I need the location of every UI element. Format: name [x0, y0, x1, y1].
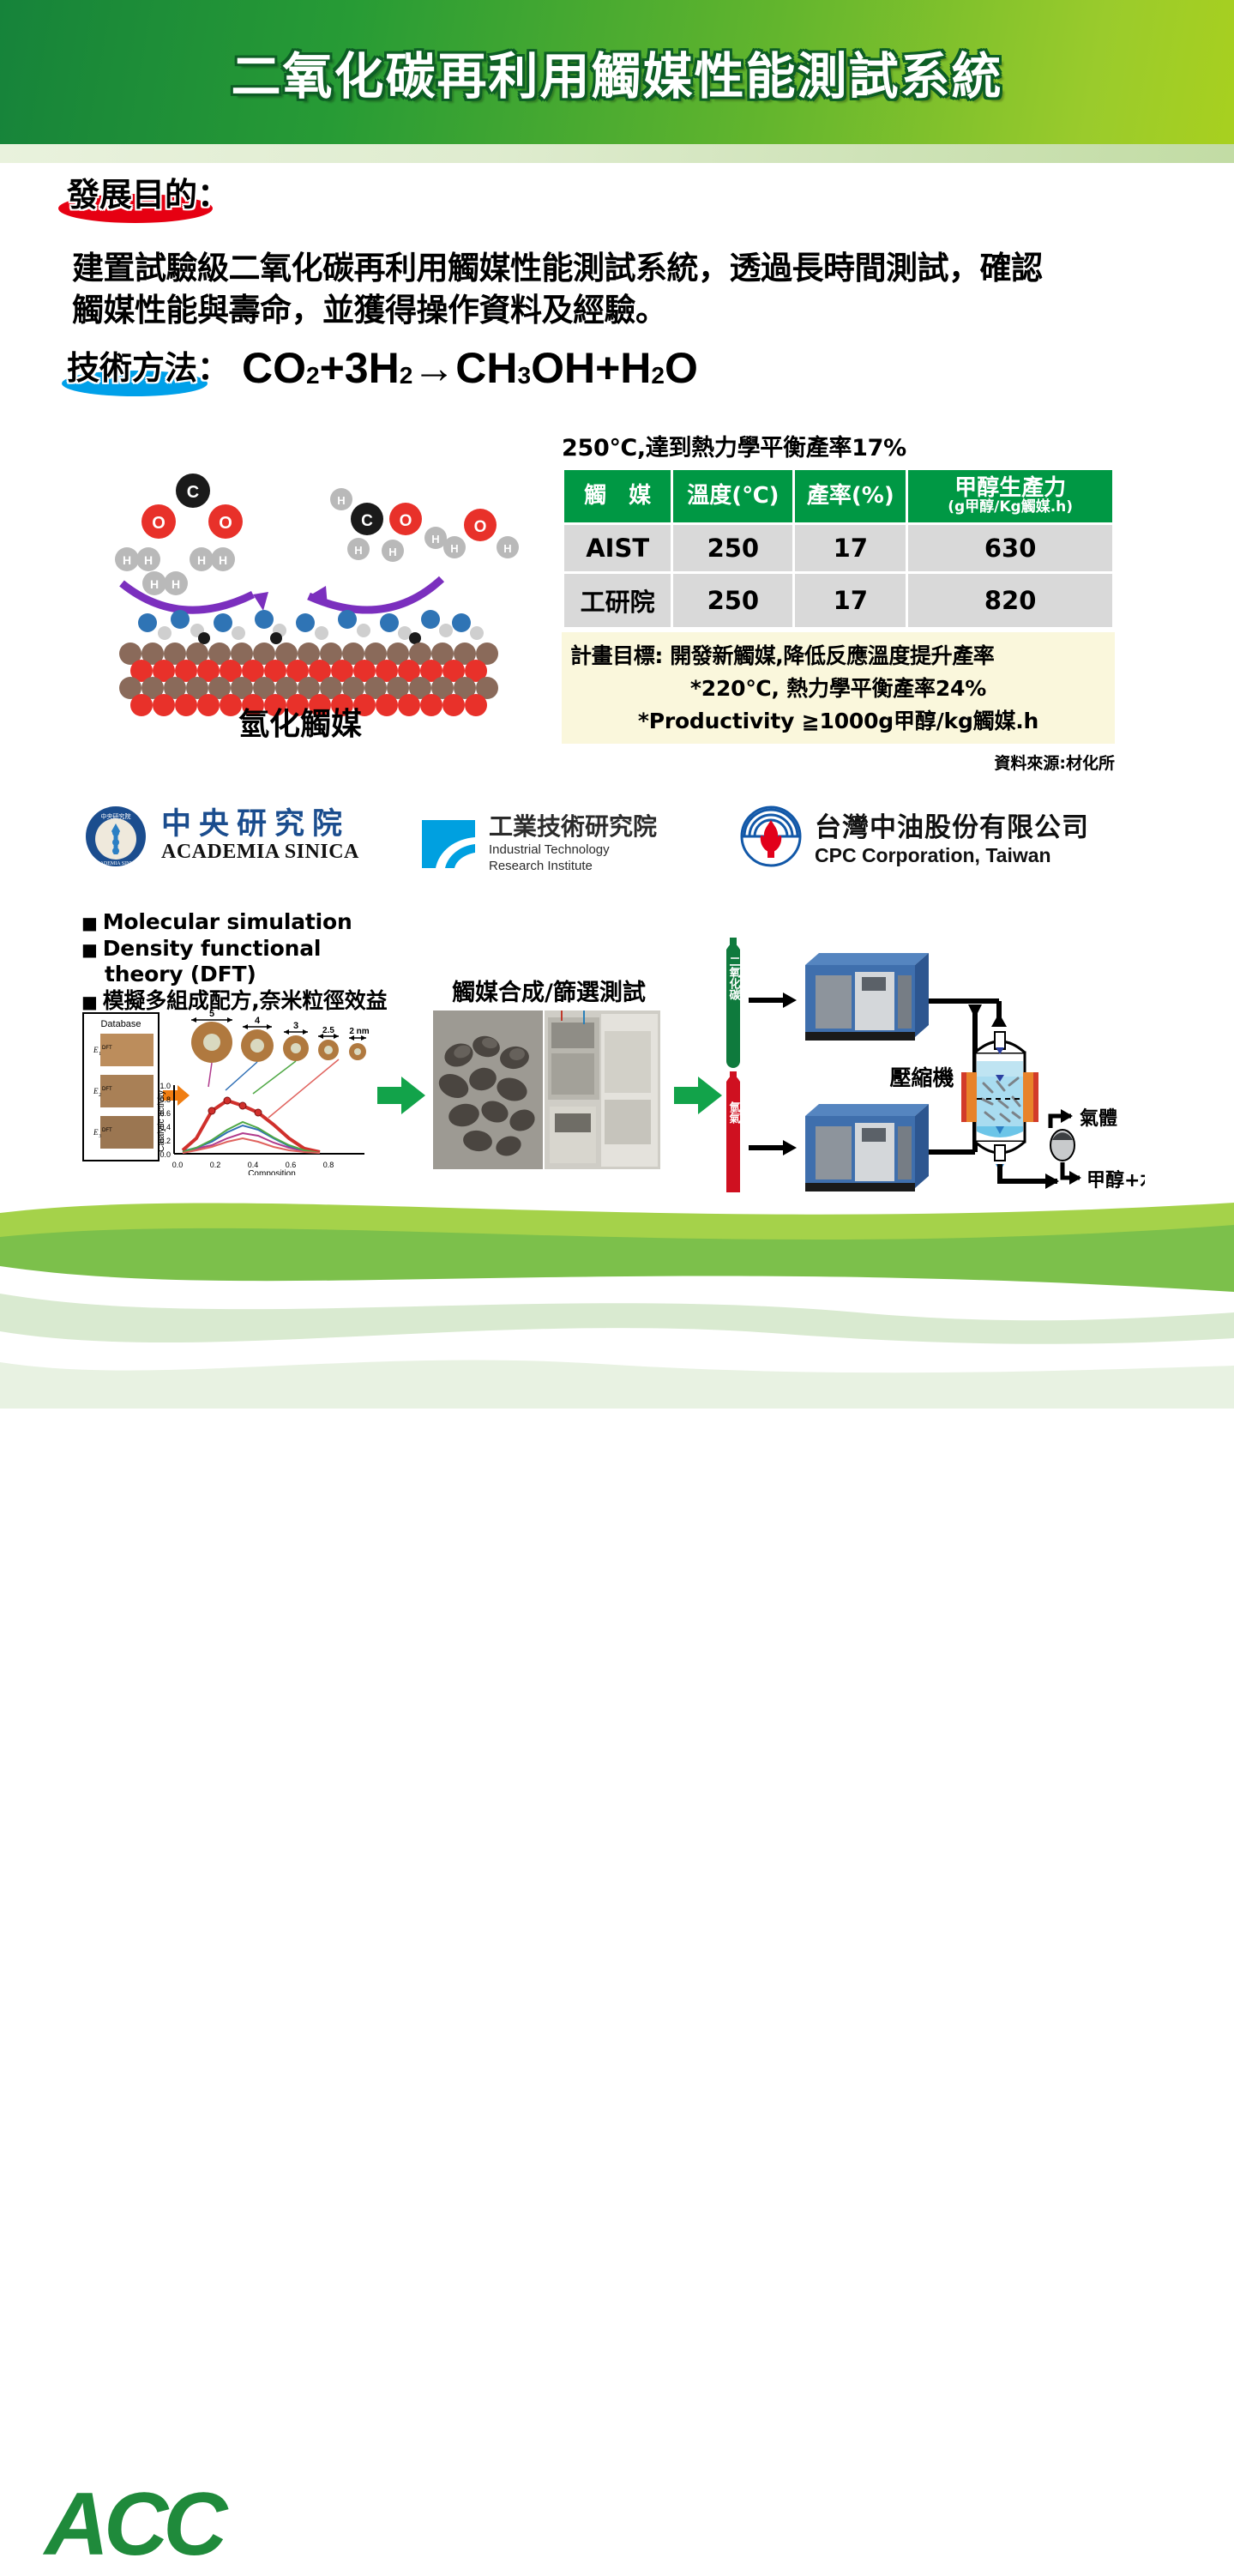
purpose-body-line-2: 觸媒性能與壽命，並獲得操作資料及經驗。 — [72, 289, 1153, 331]
bullet-square-icon: ■ — [81, 939, 98, 960]
bullet-item: ■Density functional — [81, 936, 442, 962]
h2-cylinder: 氫氣 — [726, 1071, 740, 1192]
svg-text:H: H — [431, 533, 439, 546]
svg-text:DFT: DFT — [102, 1087, 112, 1092]
performance-table: 觸 媒 溫度(℃) 產率(%) 甲醇生產力 (g甲醇/Kg觸媒.h) AIST … — [562, 468, 1115, 630]
process-flow-panel: 二氧化碳 氫氣 — [699, 931, 1145, 1192]
gas-output-label: 氣體 — [1080, 1107, 1117, 1130]
nanoparticle-size-row: 5 4 3 2.5 2 nm — [191, 1009, 370, 1063]
svg-text:O: O — [219, 514, 232, 533]
svg-text:二氧化碳: 二氧化碳 — [727, 956, 742, 1001]
reaction-equation: CO2+3H2→CH3OH+H2O — [242, 343, 698, 393]
simulation-bullets: ■Molecular simulation ■Density functiona… — [81, 909, 442, 1014]
arrow-co2-to-compressor-icon — [749, 992, 797, 1008]
table-caption: 250℃,達到熱力學平衡產率17% — [562, 429, 1115, 462]
synthesis-label: 觸媒合成/篩選測試 — [433, 974, 665, 1007]
svg-text:H: H — [337, 494, 345, 507]
cell-yield: 17 — [795, 574, 906, 627]
cell-productivity: 630 — [908, 525, 1112, 571]
svg-text:3: 3 — [293, 1021, 298, 1031]
cpc-flame-icon — [739, 805, 803, 868]
svg-text:E: E — [93, 1128, 99, 1137]
svg-text:4: 4 — [255, 1016, 261, 1026]
cell-catalyst: 工研院 — [564, 574, 671, 627]
svg-text:C: C — [361, 512, 373, 530]
cell-temperature: 250 — [673, 574, 792, 627]
purpose-section: 發展目的： 建置試驗級二氧化碳再利用觸媒性能測試系統，透過長時間測試，確認 觸媒… — [0, 168, 1234, 218]
svg-text:DFT: DFT — [102, 1128, 112, 1133]
dft-simulation-panel: Database E 1 DFT E 2 DFT E 3 DFT — [81, 1008, 386, 1175]
header-gradient-divider — [0, 144, 1234, 163]
svg-text:H: H — [150, 577, 159, 591]
svg-text:O: O — [400, 512, 412, 530]
svg-text:氫氣: 氫氣 — [727, 1101, 741, 1125]
catalyst-pellets-photo — [433, 1010, 660, 1169]
table-header-row: 觸 媒 溫度(℃) 產率(%) 甲醇生產力 (g甲醇/Kg觸媒.h) — [564, 470, 1112, 522]
itri-en-line-2: Research Institute — [489, 859, 657, 875]
svg-text:2: 2 — [99, 1093, 101, 1098]
purpose-label: 發展目的： — [67, 168, 230, 215]
arrow-h2-to-compressor-icon — [749, 1140, 797, 1155]
reaction-arrow-in-icon — [122, 583, 253, 610]
svg-text:H: H — [388, 546, 396, 558]
academia-sinica-cn: 中央研究院 — [161, 809, 359, 841]
compressor-unit-1 — [805, 953, 929, 1041]
svg-text:H: H — [219, 553, 227, 567]
svg-text:E: E — [93, 1087, 99, 1095]
goal-line-2: *220℃, 熱力學平衡產率24% — [570, 672, 1106, 703]
svg-text:H: H — [197, 553, 206, 567]
goal-line-3: *Productivity ≧1000g甲醇/kg觸媒.h — [570, 704, 1106, 735]
process-flow-svg: 二氧化碳 氫氣 — [699, 931, 1145, 1192]
database-label: Database — [100, 1019, 141, 1029]
adsorbed-species — [138, 610, 484, 644]
svg-text:O: O — [152, 514, 166, 533]
svg-text:H: H — [450, 542, 458, 555]
logo-cpc: 台灣中油股份有限公司 CPC Corporation, Taiwan — [739, 805, 1089, 868]
catalytic-activity-plot: 1.0 0.8 0.6 0.4 0.2 0.0 0.0 0.2 0.4 0.6 … — [157, 1059, 364, 1175]
synthesis-photo-panel — [433, 1010, 660, 1169]
co2-cylinder: 二氧化碳 — [726, 938, 741, 1068]
svg-text:1: 1 — [99, 1052, 101, 1057]
svg-text:中央研究院: 中央研究院 — [101, 812, 131, 820]
svg-text:Catalytic activity: Catalytic activity — [157, 1090, 166, 1152]
svg-text:2 nm: 2 nm — [349, 1027, 369, 1036]
svg-text:ACADEMIA SINICA: ACADEMIA SINICA — [93, 861, 139, 866]
bullet-square-icon: ■ — [81, 913, 98, 933]
itri-mark-icon — [420, 813, 477, 870]
svg-text:0.2: 0.2 — [210, 1161, 221, 1169]
itri-en-line-1: Industrial Technology — [489, 842, 657, 859]
source-attribution: 資料來源:材化所 — [562, 751, 1115, 774]
reaction-arrow-out-icon — [309, 579, 442, 610]
svg-text:5: 5 — [209, 1009, 214, 1019]
cpc-en: CPC Corporation, Taiwan — [815, 844, 1089, 867]
flow-arrow-1-icon — [377, 1077, 425, 1114]
compressor-unit-2 — [805, 1104, 929, 1191]
liquid-outlet: 甲醇+水 — [1050, 1130, 1145, 1191]
academia-sinica-seal-icon: 中央研究院 ACADEMIA SINICA — [84, 805, 147, 868]
svg-text:0.0: 0.0 — [172, 1161, 184, 1169]
method-section: 技術方法： CO2+3H2→CH3OH+H2O — [0, 341, 1234, 410]
bullet-item: ■Molecular simulation — [81, 909, 442, 936]
footer-wave-graphic — [0, 1203, 1234, 1409]
svg-text:H: H — [144, 553, 153, 567]
svg-text:0.8: 0.8 — [323, 1161, 334, 1169]
dft-chart-svg: Database E 1 DFT E 2 DFT E 3 DFT — [81, 1008, 386, 1175]
svg-text:C: C — [187, 483, 199, 502]
cpc-cn: 台灣中油股份有限公司 — [815, 805, 1089, 844]
poster-header: 二氧化碳再利用觸媒性能測試系統 — [0, 0, 1234, 144]
svg-text:3: 3 — [99, 1134, 101, 1139]
method-label: 技術方法： — [67, 341, 230, 389]
svg-text:H: H — [123, 553, 131, 567]
cell-temperature: 250 — [673, 525, 792, 571]
itri-cn: 工業技術研究院 — [489, 808, 657, 842]
poster-footer: ACC — [0, 1203, 1234, 1409]
logo-itri: 工業技術研究院 Industrial Technology Research I… — [420, 808, 657, 875]
compressor-label: 壓縮機 — [889, 1065, 954, 1090]
svg-text:DFT: DFT — [102, 1046, 112, 1051]
cell-catalyst: AIST — [564, 525, 671, 571]
th-yield: 產率(%) — [795, 470, 906, 522]
goal-line-1: 計畫目標: 開發新觸媒,降低反應溫度提升產率 — [570, 639, 1106, 670]
th-catalyst: 觸 媒 — [564, 470, 671, 522]
svg-text:0.4: 0.4 — [248, 1161, 259, 1169]
acc-brand-logo: ACC — [45, 2474, 222, 2576]
bullet-item-continuation: theory (DFT) — [81, 962, 442, 988]
logo-academia-sinica: 中央研究院 ACADEMIA SINICA 中央研究院 ACADEMIA SIN… — [84, 805, 359, 868]
table-row: AIST 250 17 630 — [564, 525, 1112, 571]
academia-sinica-en: ACADEMIA SINICA — [161, 841, 359, 864]
poster-title: 二氧化碳再利用觸媒性能測試系統 — [0, 36, 1234, 108]
svg-text:H: H — [354, 544, 362, 557]
svg-text:H: H — [503, 542, 511, 555]
performance-table-section: 250℃,達到熱力學平衡產率17% 觸 媒 溫度(℃) 產率(%) 甲醇生產力 … — [562, 429, 1115, 774]
svg-text:O: O — [474, 518, 487, 536]
gas-outlet: 氣體 — [1050, 1107, 1117, 1130]
svg-text:E: E — [93, 1046, 99, 1054]
cell-productivity: 820 — [908, 574, 1112, 627]
project-goal-box: 計畫目標: 開發新觸媒,降低反應溫度提升產率 *220℃, 熱力學平衡產率24%… — [562, 632, 1115, 744]
svg-text:0.6: 0.6 — [286, 1161, 297, 1169]
catalyst-caption: 氫化觸媒 — [51, 699, 549, 744]
th-productivity: 甲醇生產力 (g甲醇/Kg觸媒.h) — [908, 470, 1112, 522]
methanol-output-label: 甲醇+水 — [1087, 1169, 1145, 1191]
svg-text:Composition: Composition — [248, 1169, 296, 1175]
purpose-label-row: 發展目的： — [0, 168, 1234, 218]
cell-yield: 17 — [795, 525, 906, 571]
th-temperature: 溫度(℃) — [673, 470, 792, 522]
purpose-body-line-1: 建置試驗級二氧化碳再利用觸媒性能測試系統，透過長時間測試，確認 — [72, 247, 1153, 289]
svg-text:1.0: 1.0 — [160, 1082, 171, 1090]
svg-text:2.5: 2.5 — [322, 1026, 334, 1035]
table-row: 工研院 250 17 820 — [564, 574, 1112, 627]
purpose-body: 建置試驗級二氧化碳再利用觸媒性能測試系統，透過長時間測試，確認 觸媒性能與壽命，… — [72, 247, 1153, 331]
svg-text:H: H — [172, 577, 180, 591]
partner-logos: 中央研究院 ACADEMIA SINICA 中央研究院 ACADEMIA SIN… — [0, 798, 1234, 890]
